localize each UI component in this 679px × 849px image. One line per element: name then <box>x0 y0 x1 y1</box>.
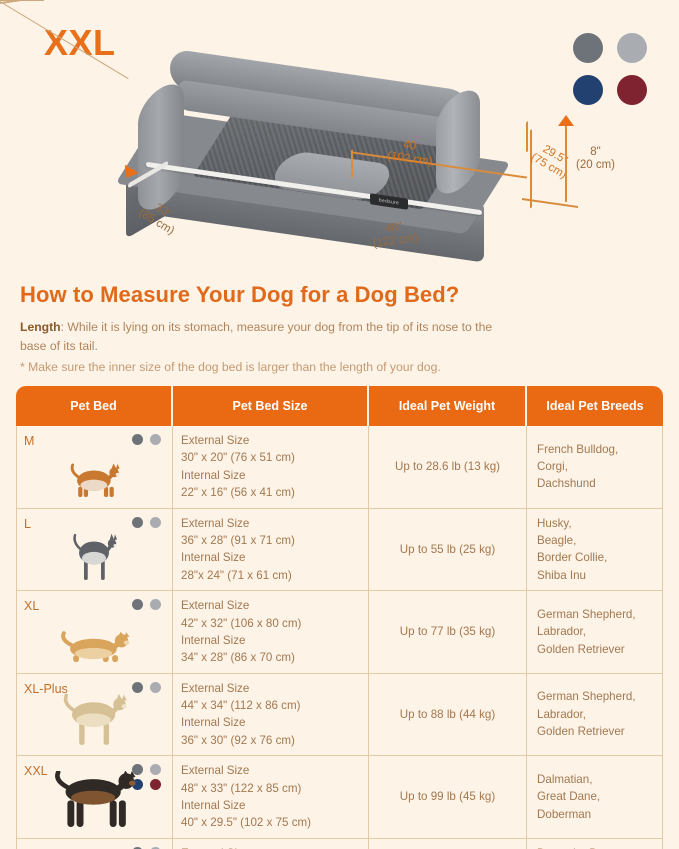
height-leader-line <box>565 126 567 202</box>
cell-ideal-weight: Up to 77 lb (35 kg) <box>369 591 527 674</box>
external-size-value: 42" x 32" (106 x 80 cm) <box>181 615 368 632</box>
external-size-value: 44" x 34" (112 x 86 cm) <box>181 697 368 714</box>
breed-name: Deutsche Dogge, <box>537 845 652 849</box>
table-row: XXXL External Size54" x 42" (135 x 107 c… <box>16 839 663 849</box>
table-row: XL External Size42" x 32" (106 x 80 cm)I… <box>16 591 663 674</box>
cell-ideal-breeds: German Shepherd,Labrador,Golden Retrieve… <box>527 591 663 674</box>
cell-ideal-weight: Up to 99 lb (45 kg) <box>369 756 527 839</box>
internal-size-label: Internal Size <box>181 549 368 566</box>
section-heading: How to Measure Your Dog for a Dog Bed? <box>20 282 679 308</box>
column-header-pet-bed-size: Pet Bed Size <box>173 386 369 426</box>
cell-pet-bed-size: External Size42" x 32" (106 x 80 cm)Inte… <box>173 591 369 674</box>
color-dot-1[interactable] <box>150 599 161 610</box>
internal-size-value: 28"x 24" (71 x 61 cm) <box>181 567 368 584</box>
measure-note: * Make sure the inner size of the dog be… <box>20 358 659 376</box>
color-option-dots <box>132 599 163 610</box>
internal-size-label: Internal Size <box>181 632 368 649</box>
length-keyword: Length <box>20 320 61 334</box>
cell-pet-bed: XXXL <box>16 839 173 849</box>
external-size-label: External Size <box>181 515 368 532</box>
dog-photo-doberman <box>49 771 141 834</box>
internal-size-value: 40" x 29.5" (102 x 75 cm) <box>181 814 368 831</box>
color-dot-0[interactable] <box>132 517 143 528</box>
height-arrow-icon <box>558 115 574 126</box>
color-swatch-navy-blue[interactable] <box>573 75 603 105</box>
table-header: Pet Bed Pet Bed Size Ideal Pet Weight Id… <box>16 386 663 426</box>
color-dot-1[interactable] <box>150 764 161 775</box>
breed-name: Golden Retriever <box>537 723 652 740</box>
cell-ideal-weight: Up to 28.6 lb (13 kg) <box>369 426 527 509</box>
color-swatch-dark-gray[interactable] <box>573 33 603 63</box>
internal-depth-line <box>530 130 532 209</box>
table-header-row: Pet Bed Pet Bed Size Ideal Pet Weight Id… <box>16 386 663 426</box>
breed-name: Doberman <box>537 806 652 823</box>
color-swatch-group <box>573 33 651 109</box>
external-size-label: External Size <box>181 845 368 849</box>
size-chart-table: Pet Bed Pet Bed Size Ideal Pet Weight Id… <box>16 386 663 849</box>
color-dot-1[interactable] <box>150 517 161 528</box>
table-row: XXL External Size48" x 33" (122 x 85 cm)… <box>16 756 663 839</box>
table-row: M External Size30" x 20" (76 x 51 cm)Int… <box>16 426 663 509</box>
breed-name: Dachshund <box>537 475 652 492</box>
breed-name: Great Dane, <box>537 788 652 805</box>
pet-bed-size-label: M <box>24 432 34 451</box>
cell-pet-bed-size: External Size44" x 34" (112 x 86 cm)Inte… <box>173 674 369 757</box>
external-size-label: External Size <box>181 762 368 779</box>
cell-ideal-weight: More than 99 lb(45 kg) <box>369 839 527 849</box>
color-dot-0[interactable] <box>132 434 143 445</box>
breed-name: German Shepherd, <box>537 688 652 705</box>
color-option-dots <box>132 517 163 528</box>
dog-photo-labrador <box>59 691 131 752</box>
cell-ideal-weight: Up to 55 lb (25 kg) <box>369 509 527 592</box>
internal-size-label: Internal Size <box>181 797 368 814</box>
cell-pet-bed: L <box>16 509 173 592</box>
cell-ideal-breeds: Dalmatian,Great Dane,Doberman <box>527 756 663 839</box>
breed-name: Corgi, <box>537 458 652 475</box>
color-dot-3[interactable] <box>150 779 161 790</box>
cell-ideal-breeds: Deutsche Dogge,Bernhardiner,Newfoundland… <box>527 839 663 849</box>
ideal-weight-value: Up to 55 lb (25 kg) <box>379 541 516 558</box>
internal-width-tick-left <box>351 150 353 179</box>
page-title: XXL <box>44 22 116 64</box>
breed-name: Dalmatian, <box>537 771 652 788</box>
color-option-dots <box>132 682 163 693</box>
infographic-page: XXL bedsure 40" <box>0 0 679 849</box>
breed-name: Labrador, <box>537 623 652 640</box>
pet-bed-size-label: XXL <box>24 762 48 781</box>
cell-pet-bed: XL-Plus <box>16 674 173 757</box>
breed-name: Labrador, <box>537 706 652 723</box>
internal-size-value: 34" x 28" (86 x 70 cm) <box>181 649 368 666</box>
breed-name: Husky, <box>537 515 652 532</box>
table-row: L External Size36" x 28" (91 x 71 cm)Int… <box>16 509 663 592</box>
cell-ideal-weight: Up to 88 lb (44 kg) <box>369 674 527 757</box>
cell-pet-bed-size: External Size36" x 28" (91 x 71 cm)Inter… <box>173 509 369 592</box>
table-row: XL-Plus External Size44" x 34" (112 x 86… <box>16 674 663 757</box>
cell-ideal-breeds: French Bulldog,Corgi,Dachshund <box>527 426 663 509</box>
column-header-ideal-weight: Ideal Pet Weight <box>369 386 527 426</box>
table-body: M External Size30" x 20" (76 x 51 cm)Int… <box>16 426 663 849</box>
color-swatch-dark-red[interactable] <box>617 75 647 105</box>
breed-name: German Shepherd, <box>537 606 652 623</box>
external-size-value: 36" x 28" (91 x 71 cm) <box>181 532 368 549</box>
hero-section: XXL bedsure 40" <box>0 0 679 280</box>
ideal-weight-value: Up to 28.6 lb (13 kg) <box>379 458 516 475</box>
cell-ideal-breeds: Husky,Beagle,Border Collie,Shiba Inu <box>527 509 663 592</box>
color-dot-1[interactable] <box>150 434 161 445</box>
cell-pet-bed-size: External Size54" x 42" (135 x 107 cm)Int… <box>173 839 369 849</box>
color-dot-1[interactable] <box>150 682 161 693</box>
cell-pet-bed-size: External Size48" x 33" (122 x 85 cm)Inte… <box>173 756 369 839</box>
cell-pet-bed: XL <box>16 591 173 674</box>
color-swatch-light-gray[interactable] <box>617 33 647 63</box>
internal-width-tick-right <box>526 122 528 153</box>
internal-depth-label: 29.5" (75 cm) <box>528 140 575 182</box>
internal-size-value: 36" x 30" (92 x 76 cm) <box>181 732 368 749</box>
external-size-value: 30" x 20" (76 x 51 cm) <box>181 449 368 466</box>
external-size-label: External Size <box>181 680 368 697</box>
external-size-value: 48" x 33" (122 x 85 cm) <box>181 780 368 797</box>
height-label: 8" (20 cm) <box>576 146 615 172</box>
breed-name: Shiba Inu <box>537 567 652 584</box>
column-header-pet-bed: Pet Bed <box>16 386 173 426</box>
dog-photo-corgi <box>67 453 123 504</box>
color-dot-0[interactable] <box>132 599 143 610</box>
cell-pet-bed-size: External Size30" x 20" (76 x 51 cm)Inter… <box>173 426 369 509</box>
dog-photo-border-collie <box>70 530 120 587</box>
measure-instructions: Length: While it is lying on its stomach… <box>20 318 659 356</box>
breed-name: Beagle, <box>537 532 652 549</box>
ideal-weight-value: Up to 77 lb (35 kg) <box>379 623 516 640</box>
pet-bed-size-label: XL <box>24 597 39 616</box>
internal-size-label: Internal Size <box>181 467 368 484</box>
measure-instructions-text: : While it is lying on its stomach, meas… <box>61 320 493 334</box>
dog-bed-illustration: bedsure 40" (102 cm) 29.5" (75 cm) <box>118 60 538 260</box>
internal-size-label: Internal Size <box>181 714 368 731</box>
measure-guide-section: How to Measure Your Dog for a Dog Bed? L… <box>0 282 679 376</box>
height-cm: (20 cm) <box>576 159 615 172</box>
cell-pet-bed: M <box>16 426 173 509</box>
column-header-ideal-breeds: Ideal Pet Breeds <box>527 386 663 426</box>
breed-name: French Bulldog, <box>537 441 652 458</box>
pet-bed-size-label: XXXL <box>24 845 56 849</box>
external-size-label: External Size <box>181 597 368 614</box>
breed-name: Border Collie, <box>537 549 652 566</box>
breed-name: Golden Retriever <box>537 641 652 658</box>
size-chart-table-wrap: Pet Bed Pet Bed Size Ideal Pet Weight Id… <box>16 386 663 849</box>
dog-photo-golden-retriever <box>56 618 134 669</box>
color-option-dots <box>132 434 163 445</box>
cell-pet-bed: XXL <box>16 756 173 839</box>
internal-size-value: 22" x 16" (56 x 41 cm) <box>181 484 368 501</box>
ideal-weight-value: Up to 99 lb (45 kg) <box>379 788 516 805</box>
measure-instructions-line2: base of its tail. <box>20 337 659 356</box>
height-inches: 8" <box>576 146 615 159</box>
external-size-label: External Size <box>181 432 368 449</box>
pet-bed-size-label: L <box>24 515 31 534</box>
ideal-weight-value: Up to 88 lb (44 kg) <box>379 706 516 723</box>
cell-ideal-breeds: German Shepherd,Labrador,Golden Retrieve… <box>527 674 663 757</box>
color-dot-0[interactable] <box>132 682 143 693</box>
